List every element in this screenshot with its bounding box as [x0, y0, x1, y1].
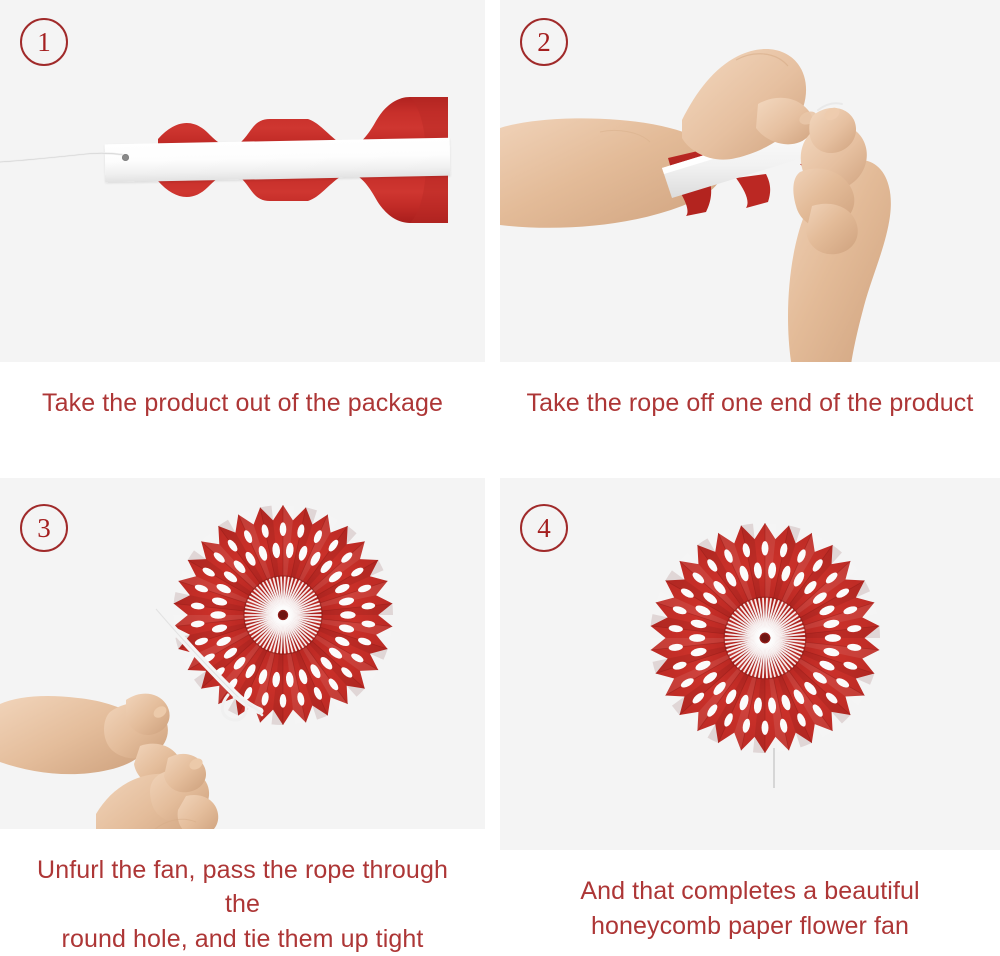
hanging-thread — [772, 748, 776, 788]
folded-fan-scene — [0, 0, 485, 362]
step-number-badge-4: 4 — [520, 504, 568, 552]
finished-fan-rosette — [645, 518, 885, 758]
hands-holding-fan-scene — [500, 0, 1000, 362]
caption-line: round hole, and tie them up tight — [18, 922, 467, 956]
step-3-caption: Unfurl the fan, pass the rope through th… — [0, 829, 485, 956]
step-card-1: 1 — [0, 0, 485, 478]
caption-line: Take the product out of the package — [42, 386, 443, 421]
rope-loop — [150, 603, 280, 723]
step-4-caption: And that completes a beautiful honeycomb… — [500, 850, 1000, 956]
step-4-photo: 4 — [500, 478, 1000, 850]
step-1-photo: 1 — [0, 0, 485, 362]
caption-line: Unfurl the fan, pass the rope through th… — [18, 853, 467, 922]
caption-line: And that completes a beautiful — [580, 874, 919, 909]
step-2-photo: 2 — [500, 0, 1000, 362]
caption-line: Take the rope off one end of the product — [527, 386, 974, 421]
eyelet-grommet-icon — [122, 154, 129, 161]
card-strip — [105, 138, 451, 183]
step-1-caption: Take the product out of the package — [0, 362, 485, 478]
step-card-4: 4 — [500, 478, 1000, 956]
step-number-badge-2: 2 — [520, 18, 568, 66]
step-card-3: 3 — [0, 478, 485, 956]
step-number-badge-1: 1 — [20, 18, 68, 66]
step-2-caption: Take the rope off one end of the product — [500, 362, 1000, 478]
step-card-2: 2 — [500, 0, 1000, 478]
hanging-rope — [0, 140, 130, 168]
step-3-photo: 3 — [0, 478, 485, 829]
caption-line: honeycomb paper flower fan — [580, 909, 919, 944]
step-number-badge-3: 3 — [20, 504, 68, 552]
instruction-sheet: 1 — [0, 0, 1000, 956]
